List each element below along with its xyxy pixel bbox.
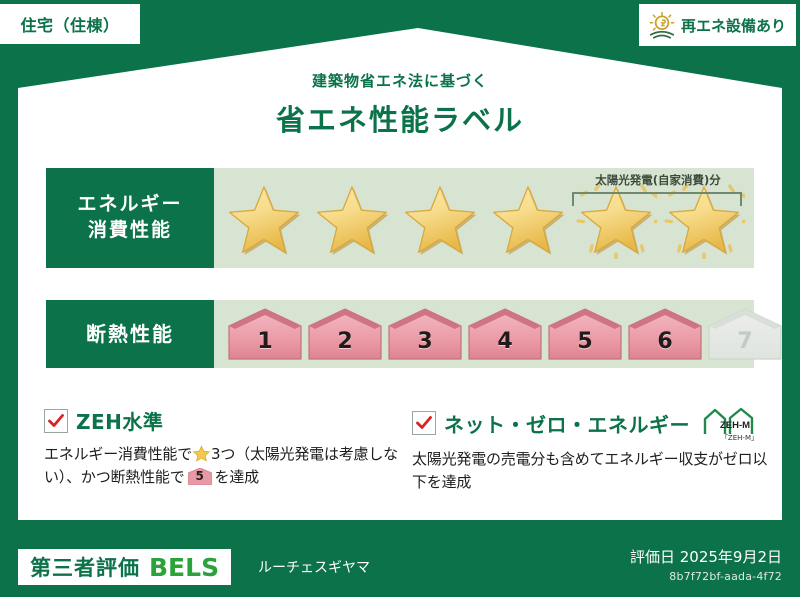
page-title: 省エネ性能ラベル <box>0 97 800 139</box>
insulation-level-badge-inline: 5 <box>188 468 212 485</box>
solar-bracket <box>572 192 742 206</box>
insulation-level-value: 6 <box>657 329 672 354</box>
title-block: 建築物省エネ法に基づく 省エネ性能ラベル <box>0 70 800 139</box>
zeh-body-post: を達成 <box>215 468 259 486</box>
zeh-m-house-icon: ZEH-M <box>700 406 756 436</box>
insulation-level-scale: 1234567 <box>226 300 784 368</box>
solar-sun-icon <box>647 10 677 40</box>
footer-meta: 評価日 2025年9月2日 8b7f72bf-aada-4f72 <box>630 546 782 583</box>
star-1 <box>220 172 308 264</box>
criterion-net-zero-body: 太陽光発電の売電分も含めてエネルギー収支がゼロ以下を達成 <box>412 448 772 495</box>
insulation-level-value: 1 <box>257 329 272 354</box>
insulation-level-value: 7 <box>737 329 752 354</box>
insulation-level-5: 5 <box>546 306 624 362</box>
criterion-net-zero-title: ネット・ゼロ・エネルギー <box>444 409 690 438</box>
zeh-m-logo-caption: 「ZEH-M」 <box>721 433 758 443</box>
star-icon <box>487 177 569 259</box>
check-icon <box>416 416 432 430</box>
building-name: ルーチェスギヤマ <box>258 557 370 577</box>
renewable-equipment-badge: 再エネ設備あり <box>639 4 796 46</box>
energy-performance-row: エネルギー 消費性能 太陽光発電(自家消費)分 <box>46 168 754 268</box>
check-icon <box>48 414 64 428</box>
insulation-level-value: 2 <box>337 329 352 354</box>
insulation-level-1: 1 <box>226 306 304 362</box>
star-icon <box>223 177 305 259</box>
criterion-zeh: ZEH水準 エネルギー消費性能で3つ（太陽光発電は考慮しない）、かつ断熱性能で5… <box>44 406 404 490</box>
insulation-level-value: 4 <box>497 329 512 354</box>
energy-label-line2: 消費性能 <box>88 218 172 244</box>
insulation-label-text: 断熱性能 <box>86 321 174 348</box>
building-type-chip: 住宅（住棟） <box>0 4 140 44</box>
net-zero-checkbox[interactable] <box>412 411 436 435</box>
building-type-label: 住宅（住棟） <box>20 12 119 36</box>
renewable-badge-label: 再エネ設備あり <box>681 15 786 36</box>
criterion-zeh-body: エネルギー消費性能で3つ（太陽光発電は考慮しない）、かつ断熱性能で5を達成 <box>44 443 404 490</box>
star-sparkle-icon <box>663 177 745 259</box>
star-2 <box>308 172 396 264</box>
insulation-level-2: 2 <box>306 306 384 362</box>
criterion-net-zero-header: ネット・ゼロ・エネルギー ZEH-M 「ZEH-M」 <box>412 406 772 440</box>
criterion-net-zero: ネット・ゼロ・エネルギー ZEH-M 「ZEH-M」 太陽光発電の売電分も含めて… <box>412 406 772 495</box>
evaluation-id: 8b7f72bf-aada-4f72 <box>630 570 782 583</box>
evaluation-date: 評価日 2025年9月2日 <box>630 546 782 567</box>
bels-jp-label: 第三者評価 <box>30 552 140 582</box>
star-sparkle-icon <box>575 177 657 259</box>
insulation-level-value: 5 <box>577 329 592 354</box>
star-icon <box>399 177 481 259</box>
energy-performance-label: エネルギー 消費性能 <box>46 168 214 268</box>
insulation-level-7: 7 <box>706 306 784 362</box>
zeh-m-logo: ZEH-M 「ZEH-M」 <box>700 406 756 440</box>
insulation-level-value: 3 <box>417 329 432 354</box>
inline-star-icon <box>193 445 210 462</box>
insulation-performance-label: 断熱性能 <box>46 300 214 368</box>
star-4 <box>484 172 572 264</box>
subtitle: 建築物省エネ法に基づく <box>0 70 800 91</box>
criterion-zeh-header: ZEH水準 <box>44 406 404 435</box>
star-icon <box>311 177 393 259</box>
energy-label-line1: エネルギー <box>77 192 182 218</box>
zeh-checkbox[interactable] <box>44 409 68 433</box>
energy-label-card: 住宅（住棟） 再エネ設備あり 建築物省エネ法に基づく 省エネ性能ラベル エネルギ… <box>0 0 800 597</box>
insulation-level-6: 6 <box>626 306 704 362</box>
insulation-level-3: 3 <box>386 306 464 362</box>
bels-en-label: BELS <box>149 553 219 582</box>
inline-badge-value: 5 <box>188 468 212 485</box>
solar-generation-note: 太陽光発電(自家消費)分 <box>570 172 746 188</box>
criterion-zeh-title: ZEH水準 <box>76 406 163 435</box>
zeh-body-pre: エネルギー消費性能で <box>44 445 192 463</box>
bels-badge: 第三者評価 BELS <box>18 549 231 585</box>
insulation-level-4: 4 <box>466 306 544 362</box>
zeh-m-logo-text: ZEH-M <box>720 420 750 431</box>
star-3 <box>396 172 484 264</box>
energy-performance-value: 太陽光発電(自家消費)分 <box>214 168 754 268</box>
insulation-performance-row: 断熱性能 1234567 <box>46 300 754 368</box>
insulation-performance-value: 1234567 <box>214 300 754 368</box>
